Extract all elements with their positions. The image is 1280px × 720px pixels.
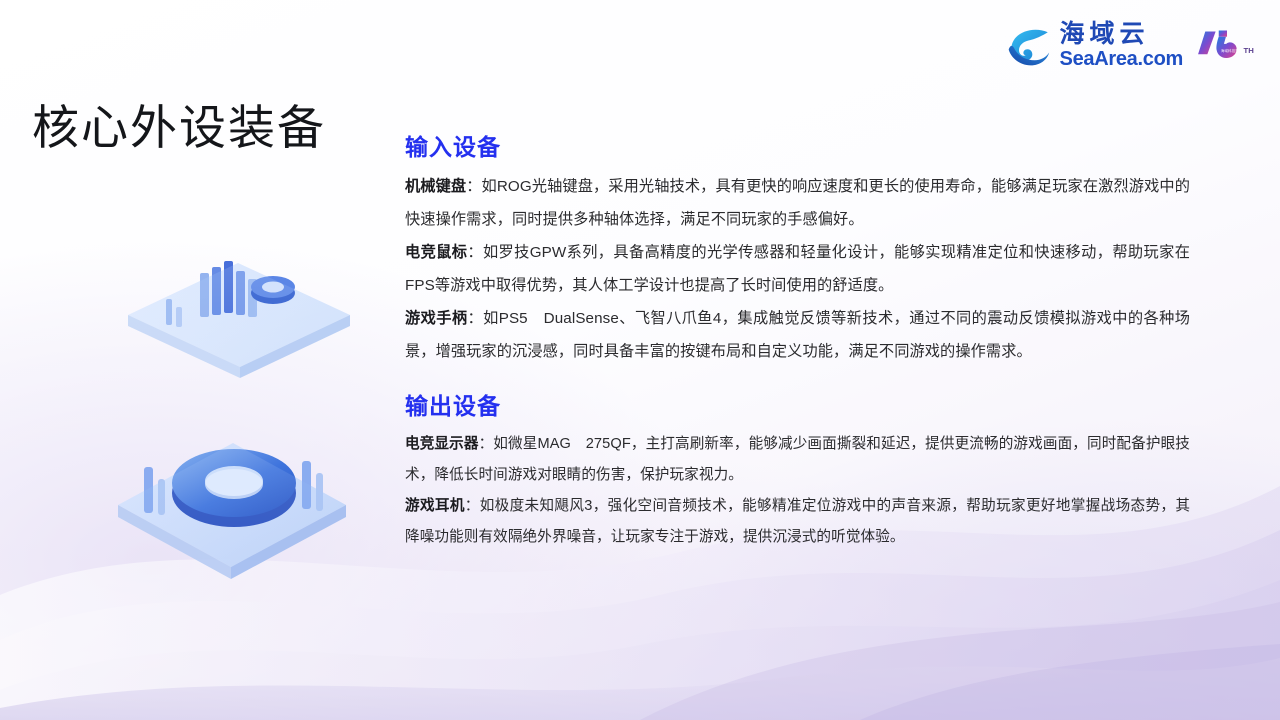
section-body-output: 电竞显示器：如微星MAG 275QF，主打高刷新率，能够减少画面撕裂和延迟，提供… <box>405 429 1190 553</box>
paragraph-mechanical-keyboard: 机械键盘：如ROG光轴键盘，采用光轴技术，具有更快的响应速度和更长的使用寿命，能… <box>405 170 1190 236</box>
paragraph-text: 如极度未知飓风3，强化空间音频技术，能够精准定位游戏中的声音来源，帮助玩家更好地… <box>405 498 1190 545</box>
term-separator: ： <box>465 498 480 514</box>
brand-logo: 海域云 SeaArea.com TH 海域科技集团 <box>1005 22 1258 69</box>
paragraph-text: 如ROG光轴键盘，采用光轴技术，具有更快的响应速度和更长的使用寿命，能够满足玩家… <box>405 178 1190 228</box>
term-gaming-headset: 游戏耳机 <box>405 498 465 514</box>
brand-name-en: SeaArea.com <box>1060 49 1183 69</box>
paragraph-text: 如PS5 DualSense、飞智八爪鱼4，集成触觉反馈等新技术，通过不同的震动… <box>405 310 1190 360</box>
brand-text: 海域云 SeaArea.com <box>1060 22 1183 69</box>
badge-subtext: 海域科技集团 <box>1221 48 1243 53</box>
15th-anniversary-badge-icon: TH 海域科技集团 <box>1196 25 1258 67</box>
section-body-input: 机械键盘：如ROG光轴键盘，采用光轴技术，具有更快的响应速度和更长的使用寿命，能… <box>405 170 1190 368</box>
section-input-devices: 输入设备 机械键盘：如ROG光轴键盘，采用光轴技术，具有更快的响应速度和更长的使… <box>405 128 1190 368</box>
term-separator: ： <box>467 310 483 327</box>
paragraph-gaming-headset: 游戏耳机：如极度未知飓风3，强化空间音频技术，能够精准定位游戏中的声音来源，帮助… <box>405 491 1190 553</box>
paragraph-gaming-mouse: 电竞鼠标：如罗技GPW系列，具备高精度的光学传感器和轻量化设计，能够实现精准定位… <box>405 236 1190 302</box>
term-separator: ： <box>467 244 483 261</box>
badge-text: TH <box>1244 46 1255 55</box>
section-output-devices: 输出设备 电竞显示器：如微星MAG 275QF，主打高刷新率，能够减少画面撕裂和… <box>405 387 1190 553</box>
term-separator: ： <box>466 178 481 195</box>
headset-3d-icon <box>118 443 346 579</box>
section-heading-output: 输出设备 <box>405 387 1190 421</box>
page-title: 核心外设装备 <box>32 89 326 158</box>
term-gaming-monitor: 电竞显示器 <box>405 436 479 452</box>
gaming-peripherals-3d-illustration <box>88 215 378 595</box>
wave-swirl-icon <box>1005 23 1051 69</box>
term-separator: ： <box>479 436 494 452</box>
paragraph-text: 如微星MAG 275QF，主打高刷新率，能够减少画面撕裂和延迟，提供更流畅的游戏… <box>405 436 1190 483</box>
paragraph-gamepad: 游戏手柄：如PS5 DualSense、飞智八爪鱼4，集成触觉反馈等新技术，通过… <box>405 302 1190 368</box>
section-heading-input: 输入设备 <box>405 128 1190 162</box>
paragraph-text: 如罗技GPW系列，具备高精度的光学传感器和轻量化设计，能够实现精准定位和快速移动… <box>405 244 1190 294</box>
term-gamepad: 游戏手柄 <box>405 310 467 327</box>
term-mechanical-keyboard: 机械键盘 <box>405 178 466 195</box>
brand-name-cn: 海域云 <box>1060 22 1183 47</box>
paragraph-gaming-monitor: 电竞显示器：如微星MAG 275QF，主打高刷新率，能够减少画面撕裂和延迟，提供… <box>405 429 1190 491</box>
slide-canvas: 海域云 SeaArea.com TH 海域科技集团 核心外设装备 <box>0 0 1280 720</box>
keyboard-3d-icon <box>128 261 350 378</box>
content-column: 输入设备 机械键盘：如ROG光轴键盘，采用光轴技术，具有更快的响应速度和更长的使… <box>405 128 1190 553</box>
term-gaming-mouse: 电竞鼠标 <box>405 244 467 261</box>
